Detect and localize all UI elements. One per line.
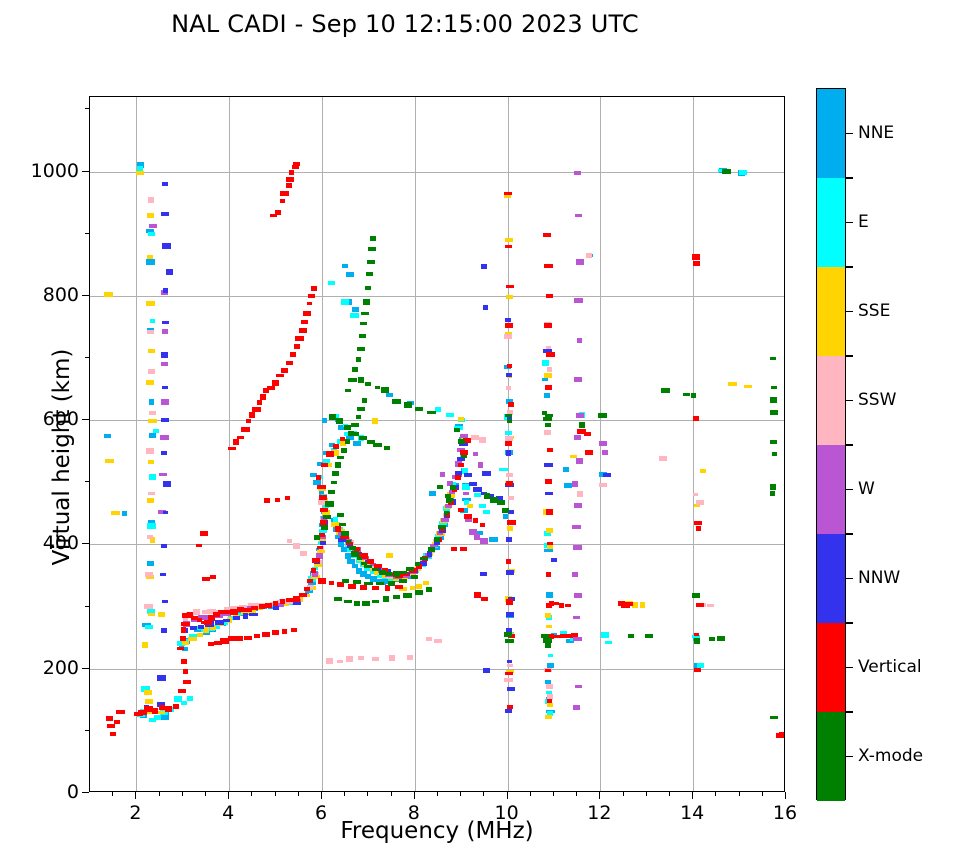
x-minor-tick xyxy=(739,792,740,796)
data-point xyxy=(162,321,169,324)
data-point xyxy=(547,699,552,703)
colorbar-tick xyxy=(846,133,853,135)
data-point xyxy=(497,500,505,505)
data-point xyxy=(287,539,292,543)
colorbar-segment-x-mode[interactable] xyxy=(817,712,845,801)
y-tick xyxy=(82,543,89,544)
data-point xyxy=(445,494,451,498)
x-minor-tick xyxy=(182,792,183,796)
data-point xyxy=(340,536,349,539)
data-point xyxy=(190,626,197,630)
data-point xyxy=(483,668,490,673)
x-tick xyxy=(228,792,229,799)
data-point xyxy=(694,521,702,525)
data-point xyxy=(357,557,362,560)
data-point xyxy=(543,417,552,421)
data-point xyxy=(304,587,310,591)
data-point xyxy=(188,637,197,641)
data-point xyxy=(373,443,382,447)
data-point xyxy=(149,224,157,228)
data-point xyxy=(543,233,551,237)
data-point xyxy=(259,604,265,609)
data-point xyxy=(152,708,158,714)
data-point xyxy=(246,419,251,423)
data-point xyxy=(693,261,700,266)
data-point xyxy=(504,632,512,637)
data-point xyxy=(198,625,204,629)
colorbar-segment-nne[interactable] xyxy=(817,89,845,178)
data-point xyxy=(694,633,699,636)
data-point xyxy=(107,724,115,728)
data-point xyxy=(547,703,553,707)
data-point xyxy=(202,577,210,581)
colorbar-tick xyxy=(846,400,853,402)
data-point xyxy=(275,498,280,502)
data-point xyxy=(505,414,512,417)
data-point xyxy=(346,540,351,543)
data-point xyxy=(546,625,552,628)
data-point xyxy=(426,587,432,592)
x-tick xyxy=(321,792,322,799)
colorbar-label-w: W xyxy=(858,479,875,499)
data-point xyxy=(455,475,461,480)
data-point xyxy=(114,720,120,724)
data-point xyxy=(602,450,608,455)
data-point xyxy=(576,259,584,265)
data-point xyxy=(157,675,166,681)
data-point xyxy=(693,416,699,421)
data-point xyxy=(446,498,453,503)
colorbar[interactable] xyxy=(816,88,846,800)
data-point xyxy=(474,493,481,497)
y-minor-tick xyxy=(85,357,89,358)
x-tick xyxy=(135,792,136,799)
data-point xyxy=(181,701,187,705)
data-point xyxy=(440,472,445,477)
data-point xyxy=(147,330,154,334)
data-point xyxy=(544,463,553,467)
colorbar-label-vertical: Vertical xyxy=(858,657,922,677)
data-point xyxy=(547,542,553,545)
data-point xyxy=(696,526,701,531)
data-point xyxy=(316,475,321,480)
data-point xyxy=(163,288,168,293)
data-point xyxy=(770,484,776,490)
colorbar-label-x-mode: X-mode xyxy=(858,746,923,766)
data-point xyxy=(399,571,407,574)
data-point xyxy=(233,439,239,445)
data-point xyxy=(507,520,516,525)
data-point xyxy=(506,599,513,605)
y-axis-label: Virtual height (km) xyxy=(49,307,75,607)
data-point xyxy=(505,318,511,322)
data-point xyxy=(365,286,371,290)
chart-title: NAL CADI - Sep 10 12:15:00 2023 UTC xyxy=(0,10,810,38)
data-point xyxy=(429,491,436,496)
data-point xyxy=(333,444,339,449)
data-point xyxy=(326,658,333,664)
data-point xyxy=(147,498,154,503)
data-point xyxy=(234,636,243,641)
colorbar-segment-e[interactable] xyxy=(817,178,845,267)
data-point xyxy=(404,402,412,408)
x-minor-tick xyxy=(646,792,647,796)
data-point xyxy=(352,367,358,372)
colorbar-segment-vertical[interactable] xyxy=(817,623,845,712)
data-point xyxy=(249,613,258,616)
data-point xyxy=(144,604,153,609)
data-point xyxy=(386,553,393,558)
data-point xyxy=(149,411,156,415)
data-point xyxy=(388,581,395,586)
data-point xyxy=(579,422,585,428)
x-tick xyxy=(414,792,415,799)
data-point xyxy=(504,192,512,195)
data-point xyxy=(337,513,344,517)
data-point xyxy=(693,493,698,496)
data-point xyxy=(252,407,261,412)
x-tick xyxy=(692,792,693,799)
data-point xyxy=(480,523,485,527)
data-point xyxy=(506,285,514,288)
colorbar-segment-nnw[interactable] xyxy=(817,534,845,623)
data-point xyxy=(314,535,320,540)
data-point xyxy=(319,495,327,500)
data-point xyxy=(696,603,704,607)
data-point xyxy=(366,272,373,276)
data-point xyxy=(504,678,513,682)
data-point xyxy=(446,413,454,417)
data-point xyxy=(548,654,553,657)
data-point xyxy=(299,593,307,597)
data-point xyxy=(505,431,512,435)
data-point xyxy=(162,182,168,186)
data-point xyxy=(361,312,369,315)
colorbar-segment-ssw[interactable] xyxy=(817,356,845,445)
data-point xyxy=(341,448,347,453)
colorbar-tick xyxy=(846,311,853,313)
data-point xyxy=(480,538,488,544)
data-point xyxy=(547,367,552,372)
data-point xyxy=(505,441,512,446)
data-point xyxy=(181,659,187,664)
colorbar-segment-w[interactable] xyxy=(817,445,845,534)
data-point xyxy=(605,641,612,644)
data-point xyxy=(379,570,386,575)
data-point xyxy=(161,544,167,548)
data-point xyxy=(105,459,114,463)
data-point xyxy=(161,352,168,358)
data-point xyxy=(586,253,592,258)
data-point xyxy=(573,616,580,619)
data-point xyxy=(505,238,513,242)
data-point xyxy=(323,515,331,519)
data-point xyxy=(717,636,725,641)
data-point xyxy=(483,510,490,514)
data-point xyxy=(273,606,279,610)
data-point xyxy=(696,500,704,505)
data-point xyxy=(161,212,169,216)
data-point xyxy=(465,519,472,522)
data-point xyxy=(210,575,216,579)
data-point xyxy=(372,418,378,424)
data-point xyxy=(142,642,148,648)
data-point xyxy=(506,570,514,575)
data-point xyxy=(370,236,376,241)
data-point xyxy=(344,600,352,603)
data-point xyxy=(544,393,550,398)
colorbar-label-e: E xyxy=(858,212,869,232)
data-point xyxy=(300,551,307,556)
data-point xyxy=(428,547,435,552)
data-point xyxy=(337,456,344,459)
data-point xyxy=(281,368,288,373)
data-point xyxy=(506,450,511,456)
colorbar-segment-sse[interactable] xyxy=(817,267,845,356)
data-point xyxy=(739,170,747,175)
data-point xyxy=(351,423,359,427)
data-point xyxy=(546,528,553,533)
data-point xyxy=(507,419,512,423)
data-point xyxy=(166,269,173,275)
x-axis-label: Frequency (MHz) xyxy=(89,818,785,844)
data-point xyxy=(575,685,582,688)
data-point xyxy=(183,669,188,674)
data-point xyxy=(173,704,179,709)
data-point xyxy=(183,680,191,684)
colorbar-tick xyxy=(846,667,853,669)
data-point xyxy=(286,361,293,365)
data-point xyxy=(386,572,392,576)
data-point xyxy=(362,601,370,606)
data-point xyxy=(506,295,513,299)
x-minor-tick xyxy=(344,792,345,796)
x-minor-tick xyxy=(483,792,484,796)
data-point xyxy=(573,637,582,641)
data-point xyxy=(694,504,700,507)
data-point xyxy=(376,582,384,585)
data-point xyxy=(318,578,326,584)
data-point xyxy=(146,448,154,454)
x-minor-tick xyxy=(205,792,206,796)
data-point xyxy=(544,549,553,552)
data-point xyxy=(728,382,737,386)
data-point xyxy=(415,562,420,566)
data-point xyxy=(158,612,165,617)
data-point xyxy=(320,508,328,512)
data-point xyxy=(546,294,553,298)
x-tick xyxy=(507,792,508,799)
data-point xyxy=(691,393,696,398)
data-point xyxy=(348,584,356,589)
data-point xyxy=(163,481,171,487)
data-point xyxy=(307,302,312,305)
data-point xyxy=(383,596,389,602)
data-point xyxy=(508,496,514,500)
data-point xyxy=(147,561,154,566)
data-point xyxy=(149,433,156,438)
data-point xyxy=(180,636,186,641)
data-point xyxy=(353,580,361,584)
data-point xyxy=(262,632,270,637)
data-point xyxy=(282,629,287,634)
data-point xyxy=(574,171,581,175)
data-point xyxy=(441,518,449,522)
data-point xyxy=(372,657,379,661)
data-point xyxy=(148,232,155,236)
data-point xyxy=(479,504,486,508)
data-point xyxy=(451,547,457,551)
data-point xyxy=(416,584,422,589)
x-minor-tick xyxy=(530,792,531,796)
colorbar-boundary-tick xyxy=(846,533,853,535)
data-point xyxy=(162,600,168,603)
data-point xyxy=(574,298,583,303)
data-point xyxy=(357,407,365,411)
y-tick-label: 0 xyxy=(27,781,79,803)
data-point xyxy=(341,299,349,305)
data-point xyxy=(146,259,155,265)
data-point xyxy=(395,585,403,589)
data-point xyxy=(722,169,731,174)
data-point xyxy=(359,436,367,440)
data-point xyxy=(505,639,514,643)
data-point xyxy=(506,481,513,486)
data-point xyxy=(434,639,442,643)
data-point xyxy=(291,628,297,632)
data-point xyxy=(478,462,483,468)
data-point xyxy=(482,471,491,476)
data-point xyxy=(572,525,581,529)
plot-area[interactable] xyxy=(89,96,785,792)
data-point xyxy=(628,634,634,638)
y-tick xyxy=(82,419,89,420)
data-point xyxy=(507,364,512,368)
data-point xyxy=(572,481,578,487)
data-point xyxy=(544,323,552,328)
data-point xyxy=(193,609,200,615)
data-point xyxy=(770,491,775,496)
data-point xyxy=(294,344,300,349)
data-point xyxy=(359,334,366,338)
data-point xyxy=(341,531,349,536)
data-point xyxy=(506,612,514,617)
data-point xyxy=(237,436,244,439)
x-minor-tick xyxy=(275,792,276,796)
data-point xyxy=(559,603,564,608)
data-point xyxy=(116,710,125,714)
data-point xyxy=(148,613,155,616)
data-point xyxy=(147,535,153,539)
data-point xyxy=(148,419,157,423)
y-tick xyxy=(82,171,89,172)
data-point xyxy=(564,483,572,488)
data-point xyxy=(200,531,208,536)
data-point xyxy=(363,299,370,305)
data-point xyxy=(286,598,293,602)
data-point xyxy=(694,638,700,644)
data-point xyxy=(505,323,513,328)
data-point xyxy=(177,647,184,650)
data-point xyxy=(311,286,317,291)
data-point xyxy=(372,586,379,590)
data-point xyxy=(241,427,250,432)
data-point xyxy=(317,485,326,489)
data-point xyxy=(106,716,113,721)
data-point xyxy=(161,362,168,366)
data-point xyxy=(303,311,311,316)
data-point xyxy=(162,386,168,389)
data-point xyxy=(393,595,400,599)
data-point xyxy=(110,732,116,736)
data-point xyxy=(545,669,551,672)
data-point xyxy=(576,458,583,464)
data-point xyxy=(160,435,169,440)
data-point xyxy=(481,264,487,269)
data-point xyxy=(165,706,172,712)
data-point xyxy=(122,511,127,516)
data-point xyxy=(547,448,553,452)
data-point xyxy=(411,575,418,579)
data-point xyxy=(585,450,593,455)
y-tick-label: 800 xyxy=(27,284,79,306)
data-point xyxy=(290,352,296,357)
data-point xyxy=(505,672,513,675)
data-point xyxy=(321,525,328,530)
data-point xyxy=(272,630,279,635)
x-minor-tick xyxy=(251,792,252,796)
data-point xyxy=(311,568,316,573)
data-point xyxy=(577,338,582,343)
scatter-points xyxy=(90,97,784,791)
colorbar-label-ssw: SSW xyxy=(858,390,896,410)
data-point xyxy=(507,664,513,667)
data-point xyxy=(356,357,361,362)
data-point xyxy=(573,705,580,710)
data-point xyxy=(154,715,161,720)
x-minor-tick xyxy=(576,792,577,796)
data-point xyxy=(223,619,230,622)
data-point xyxy=(254,634,260,638)
data-point xyxy=(544,264,553,268)
data-point xyxy=(342,579,349,583)
data-point xyxy=(544,373,552,378)
data-point xyxy=(272,380,279,386)
data-point xyxy=(159,705,165,710)
data-point xyxy=(545,479,552,484)
data-point xyxy=(770,357,776,360)
data-point xyxy=(196,544,202,547)
data-point xyxy=(322,418,327,423)
data-point xyxy=(146,301,155,306)
data-point xyxy=(598,413,607,418)
data-point xyxy=(146,380,154,385)
colorbar-boundary-tick xyxy=(846,444,853,446)
data-point xyxy=(403,593,412,598)
data-point xyxy=(709,637,715,641)
data-point xyxy=(145,625,153,629)
x-minor-tick xyxy=(367,792,368,796)
data-point xyxy=(563,467,569,472)
colorbar-label-nnw: NNW xyxy=(858,568,900,588)
data-point xyxy=(506,386,511,390)
data-point xyxy=(481,597,488,601)
data-point xyxy=(503,514,508,519)
data-point xyxy=(325,501,334,507)
data-point xyxy=(307,579,313,583)
data-point xyxy=(546,509,553,515)
data-point xyxy=(771,386,777,389)
